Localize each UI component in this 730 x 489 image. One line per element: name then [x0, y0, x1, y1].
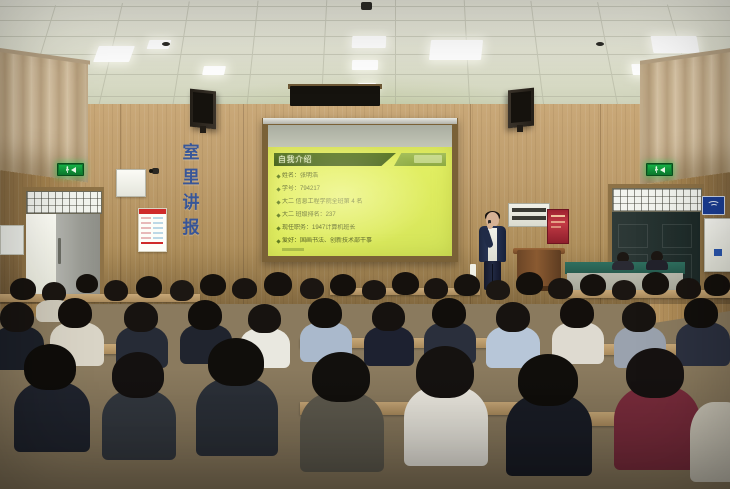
student-head [372, 302, 405, 331]
student-head [136, 276, 162, 298]
ceiling-camera-icon [361, 2, 372, 10]
student-torso [614, 386, 700, 470]
speaker-right [508, 88, 534, 129]
wifi-notice-sign [702, 196, 725, 215]
student-head [188, 300, 222, 330]
student-head [362, 280, 386, 300]
student-torso [364, 326, 414, 366]
student-head [626, 348, 684, 398]
schedule-poster [138, 208, 167, 252]
calligraphy-char-2: 里 [176, 165, 206, 190]
student-head [516, 272, 543, 295]
student-head [124, 302, 158, 332]
screen-roller-bar [263, 118, 457, 124]
ceiling-light [352, 36, 387, 48]
student-head [676, 278, 701, 299]
student-head [496, 302, 530, 332]
student-torso [690, 402, 730, 482]
speaker-right-bracket [517, 125, 523, 132]
lecture-hall-photo: 自我介绍 姓名：张明浩 学号：794217 大二 信息工程学院全班第 4 名 大… [0, 0, 730, 489]
student-torso [14, 382, 90, 452]
student-head [642, 272, 669, 295]
student-head [580, 274, 606, 296]
projected-slide: 自我介绍 姓名：张明浩 学号：794217 大二 信息工程学院全班第 4 名 大… [268, 147, 452, 256]
poster-header [139, 209, 166, 214]
running-man-icon [66, 166, 70, 173]
student-head [704, 274, 730, 296]
calligraphy-char-4: 报 [176, 215, 206, 240]
student-head [622, 302, 656, 332]
student-torso [404, 386, 488, 466]
speaker-left-bracket [200, 126, 206, 133]
student-head [424, 278, 448, 299]
screen-blank-strip [268, 125, 452, 147]
wall-cabinet-right[interactable] [704, 218, 730, 272]
presenter-hand [487, 223, 493, 229]
calligraphy-char-1: 室 [176, 140, 206, 165]
student-head [432, 298, 466, 328]
student-head [104, 280, 128, 301]
student-torso [196, 378, 278, 456]
student-head [24, 344, 76, 390]
student-head [684, 298, 718, 328]
door-handle-left[interactable] [58, 238, 61, 264]
student-head [10, 278, 36, 300]
ceiling-light [93, 46, 135, 62]
student-head [248, 304, 281, 333]
transom-window-right[interactable] [612, 188, 702, 212]
student-head [76, 274, 98, 293]
notice-panel-left [116, 169, 146, 197]
ceiling-light [352, 60, 378, 70]
red-wall-banner [547, 209, 569, 244]
student-torso [300, 392, 384, 472]
student-head [208, 338, 264, 386]
ceiling-light [651, 36, 700, 53]
student-audience [0, 266, 730, 489]
student-head [486, 280, 510, 300]
student-head [312, 352, 370, 402]
student-head [308, 298, 342, 328]
student-head [518, 354, 578, 406]
wall-sign-small-left [0, 225, 24, 255]
student-head [112, 352, 164, 398]
student-head [200, 274, 226, 296]
exit-arrow-icon [71, 167, 76, 173]
speaker-left [190, 89, 216, 130]
wall-calligraphy: 室 里 讲 报 [176, 140, 206, 240]
ceiling-speaker-icon [596, 42, 604, 46]
student-head [0, 302, 34, 332]
student-torso [102, 390, 176, 460]
transom-window-left[interactable] [26, 191, 102, 214]
slide-projector-glow [268, 147, 452, 256]
student-head [548, 278, 573, 299]
student-torso [676, 322, 730, 366]
ceiling-speaker-icon [162, 42, 170, 46]
ceiling-light [429, 40, 483, 60]
student-head [264, 272, 292, 296]
student-head [58, 298, 92, 328]
ceiling-light [202, 66, 226, 75]
exit-sign-right [646, 163, 673, 176]
student-head [416, 346, 474, 398]
student-head [612, 280, 636, 300]
student-head [330, 274, 356, 296]
student-torso [506, 394, 592, 476]
exit-sign-left [57, 163, 84, 176]
air-conditioning-vent [508, 203, 550, 227]
student-head [560, 298, 594, 328]
student-head [170, 280, 194, 301]
calligraphy-char-3: 讲 [176, 190, 206, 215]
student-head [300, 278, 324, 299]
security-camera-left [152, 168, 159, 174]
student-head [232, 278, 257, 299]
screen-surface: 自我介绍 姓名：张明浩 学号：794217 大二 信息工程学院全班第 4 名 大… [268, 125, 452, 256]
exit-arrow-icon [660, 167, 665, 173]
screen-valance [290, 86, 380, 106]
running-man-icon [655, 166, 659, 173]
student-head [392, 272, 419, 295]
student-head [454, 274, 480, 296]
